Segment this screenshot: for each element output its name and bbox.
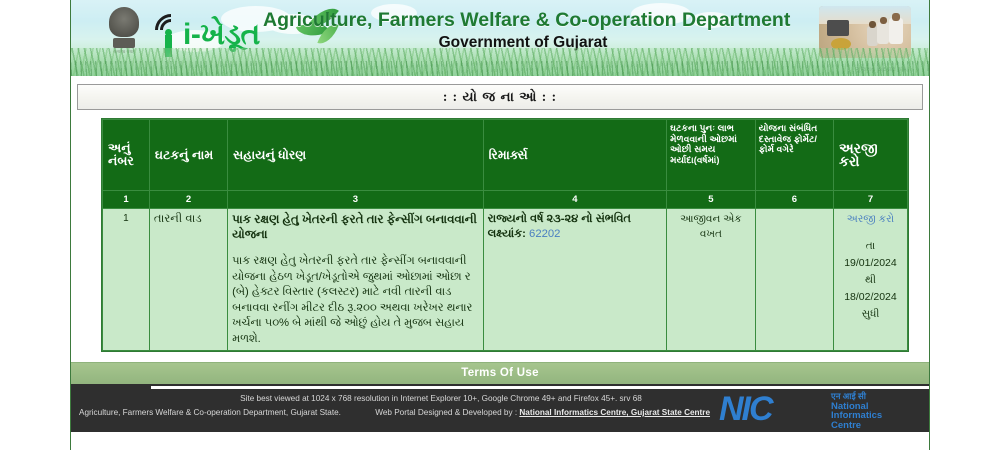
- footer-credits: Agriculture, Farmers Welfare & Co-operat…: [71, 407, 751, 419]
- cell-assistance-norm: પાક રક્ષણ હેતુ ખેતરની ફરતે તાર ફેન્સીંગ …: [228, 209, 483, 351]
- column-number-6: 6: [755, 191, 833, 209]
- footer-developed-by: Web Portal Designed & Developed by : Nat…: [375, 407, 710, 419]
- cell-component-name: તારની વાડ: [149, 209, 227, 351]
- cell-remarks: રાજ્યનો વર્ષ ૨૩-૨૪ નો સંભવિત લક્ષ્યાંક: …: [483, 209, 667, 351]
- column-header-documents: યોજના સંબંધિત દસ્તાવેજ ફોર્મેટ/ ફોર્મ વગ…: [755, 120, 833, 191]
- footer-developed-by-prefix: Web Portal Designed & Developed by :: [375, 408, 519, 417]
- remarks-target-number: 62202: [529, 228, 560, 240]
- column-number-7: 7: [833, 191, 907, 209]
- column-header-serial: અનું નંબર: [103, 120, 150, 191]
- apply-now-link[interactable]: અરજી કરો: [838, 212, 903, 227]
- main-content: : : યો જ ના ઓ : : અનું નંબર ઘટક: [71, 84, 929, 384]
- photo-person-head: [880, 17, 887, 24]
- schemes-table-container: અનું નંબર ઘટકનું નામ સહાયનું ધોરણ રિમાર્…: [101, 118, 909, 352]
- column-header-component: ઘટકનું નામ: [149, 120, 227, 191]
- table-column-number-row: 1 2 3 4 5 6 7: [103, 191, 908, 209]
- brand-logotype: i-ખેડૂત: [183, 18, 260, 52]
- cell-serial: 1: [103, 209, 150, 351]
- photo-person: [889, 18, 903, 44]
- nic-logo: NIC एन आई सी National Informatics Centre: [719, 389, 909, 429]
- table-header-row: અનું નંબર ઘટકનું નામ સહાયનું ધોરણ રિમાર્…: [103, 120, 908, 191]
- column-number-5: 5: [667, 191, 756, 209]
- column-number-1: 1: [103, 191, 150, 209]
- column-number-4: 4: [483, 191, 667, 209]
- apply-from-date: 19/01/2024: [838, 255, 903, 272]
- cell-time-limit: આજીવન એક વખત: [667, 209, 756, 351]
- page-title: : : યો જ ના ઓ : :: [78, 85, 922, 109]
- terms-of-use-link[interactable]: Terms Of Use: [461, 363, 539, 384]
- table-row: 1 તારની વાડ પાક રક્ષણ હેતુ ખેતરની ફરતે ત…: [103, 209, 908, 351]
- column-header-time-limit: ઘટકના પુનઃ લાભ મેળવવાની ઓછમાં ઓછી સમય મર…: [667, 120, 756, 191]
- footer-department-name: Agriculture, Farmers Welfare & Co-operat…: [79, 407, 341, 419]
- column-header-norm: સહાયનું ધોરણ: [228, 120, 483, 191]
- emblem-base: [113, 38, 135, 48]
- column-number-3: 3: [228, 191, 483, 209]
- photo-person-head: [869, 21, 876, 28]
- apply-from-prefix: તા: [838, 238, 903, 255]
- nic-credit-link[interactable]: National Informatics Centre, Gujarat Sta…: [519, 408, 710, 417]
- norm-title: પાક રક્ષણ હેતુ ખેતરની ફરતે તાર ફેન્સીંગ …: [232, 212, 478, 242]
- table-body: 1 તારની વાડ પાક રક્ષણ હેતુ ખેતરની ફરતે ત…: [103, 209, 908, 351]
- emblem-lions: [109, 7, 139, 37]
- cell-documents: [755, 209, 833, 351]
- table-head: અનું નંબર ઘટકનું નામ સહાયનું ધોરણ રિમાર્…: [103, 120, 908, 209]
- terms-of-use-bar: Terms Of Use: [71, 362, 929, 384]
- photo-person-head: [892, 13, 900, 21]
- nic-fullname: एन आई सी National Informatics Centre: [831, 392, 882, 430]
- cell-apply: અરજી કરો તા 19/01/2024 થી 18/02/2024 સુધ…: [833, 209, 907, 351]
- norm-body: પાક રક્ષણ હેતુ ખેતરની ફરતે તાર ફેન્સીંગ …: [232, 254, 478, 347]
- apply-range-mid: થી: [838, 272, 903, 289]
- photo-object: [827, 20, 849, 36]
- grass-decoration-front: [71, 61, 929, 76]
- nic-name-line3: Centre: [831, 421, 882, 431]
- column-header-remarks: રિમાર્ક્સ: [483, 120, 667, 191]
- page-container: सत्यमेव जयते i-ખેડૂત Agriculture, Farmer…: [70, 0, 930, 450]
- footer-text-block: Site best viewed at 1024 x 768 resolutio…: [71, 393, 751, 419]
- column-number-2: 2: [149, 191, 227, 209]
- footer-browser-note: Site best viewed at 1024 x 768 resolutio…: [71, 393, 751, 405]
- department-title: Agriculture, Farmers Welfare & Co-operat…: [263, 8, 783, 32]
- header-title-block: Agriculture, Farmers Welfare & Co-operat…: [263, 8, 783, 53]
- photo-person: [877, 22, 889, 44]
- site-header-banner: सत्यमेव जयते i-ખેડૂત Agriculture, Farmer…: [71, 0, 929, 76]
- nic-wordmark-text: NIC: [719, 390, 772, 428]
- column-header-apply: અરજી કરો: [833, 120, 907, 191]
- apply-to-date: 18/02/2024: [838, 289, 903, 306]
- site-footer: Site best viewed at 1024 x 768 resolutio…: [71, 384, 929, 432]
- apply-to-suffix: સુધી: [838, 306, 903, 323]
- page-title-bar: : : યો જ ના ઓ : :: [77, 84, 923, 110]
- schemes-table: અનું નંબર ઘટકનું નામ સહાયનું ધોરણ રિમાર્…: [102, 119, 908, 351]
- nic-wordmark-icon: NIC: [719, 391, 823, 427]
